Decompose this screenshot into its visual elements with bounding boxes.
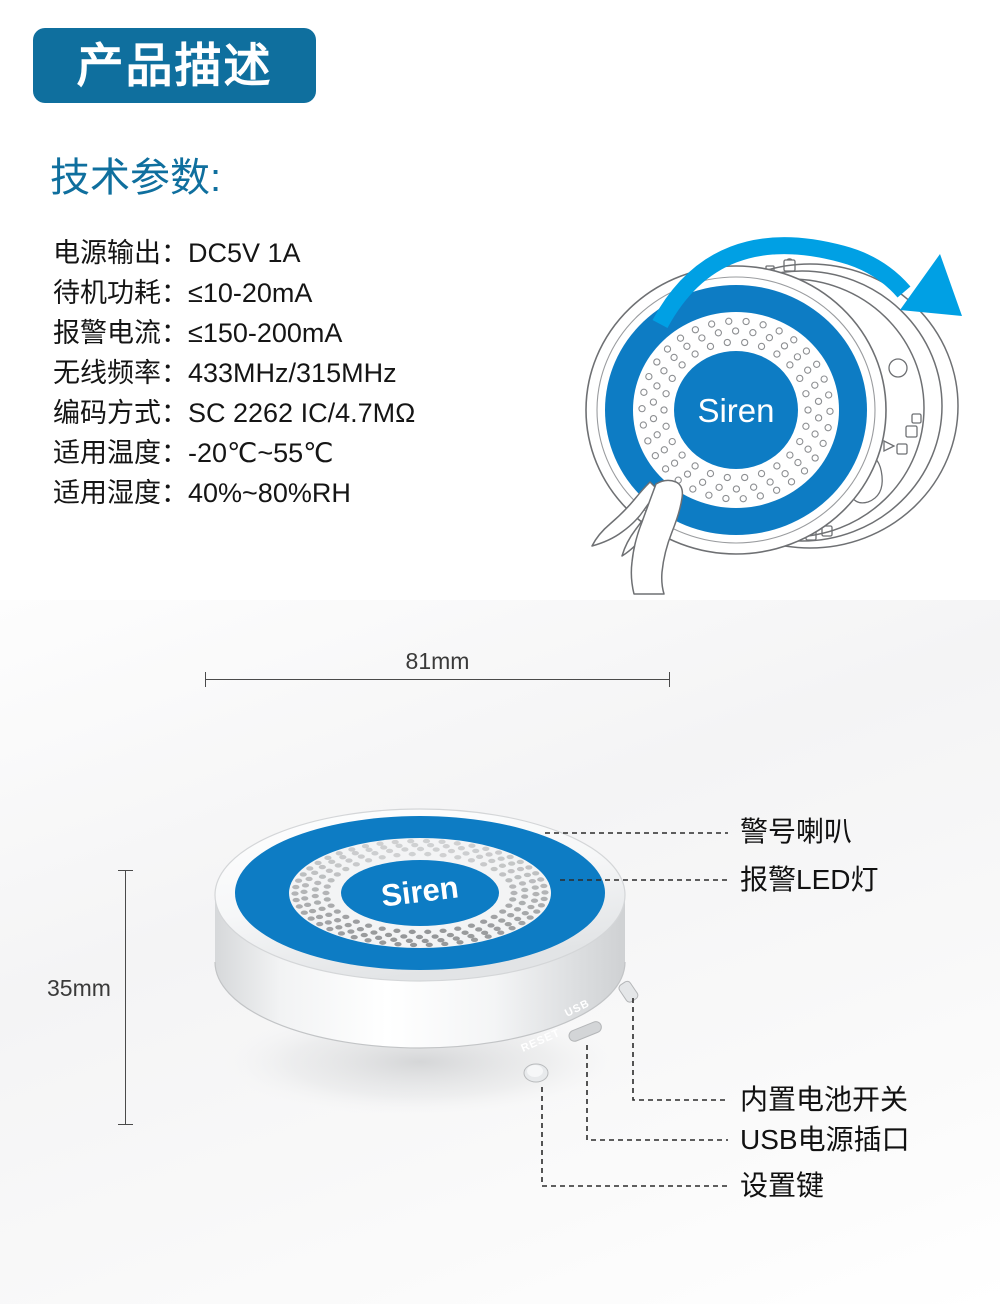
twist-brand-text: Siren [697, 392, 774, 429]
callout-label-alarm-led: 报警LED灯 [740, 866, 878, 894]
callout-label-setting-key: 设置键 [740, 1172, 824, 1200]
twist-open-illustration: Siren [548, 196, 998, 596]
rotation-arrow-head [900, 254, 962, 316]
callout-label-battery-switch: 内置电池开关 [740, 1086, 908, 1114]
hand-icon [592, 480, 682, 594]
callout-label-siren-speaker: 警号喇叭 [740, 818, 852, 846]
spec-row: 适用湿度：40%~80%RH [53, 473, 523, 513]
spec-list: 电源输出：DC5V 1A 待机功耗：≤10-20mA 报警电流：≤150-200… [53, 233, 523, 513]
spec-row: 报警电流：≤150-200mA [53, 313, 523, 353]
spec-row: 无线频率：433MHz/315MHz [53, 353, 523, 393]
callout-label-usb-port: USB电源插口 [740, 1126, 910, 1154]
reset-button[interactable] [524, 1064, 548, 1082]
height-dimension: 35mm [47, 870, 137, 1125]
spec-row: 适用温度：-20℃~55℃ [53, 433, 523, 473]
width-dimension-line [205, 679, 670, 680]
battery-switch[interactable] [617, 980, 639, 1004]
width-dimension: 81mm [205, 648, 670, 688]
product-render: Siren RESET USB [185, 690, 675, 1140]
spec-row: 待机功耗：≤10-20mA [53, 273, 523, 313]
height-dimension-label: 35mm [47, 975, 119, 1002]
spec-heading: 技术参数: [50, 158, 221, 198]
section-header-title: 产品描述 [77, 42, 273, 89]
section-header-badge: 产品描述 [33, 28, 316, 103]
spec-row: 电源输出：DC5V 1A [53, 233, 523, 273]
width-dimension-label: 81mm [205, 648, 670, 675]
spec-row: 编码方式：SC 2262 IC/4.7MΩ [53, 393, 523, 433]
height-dimension-line [125, 870, 126, 1125]
